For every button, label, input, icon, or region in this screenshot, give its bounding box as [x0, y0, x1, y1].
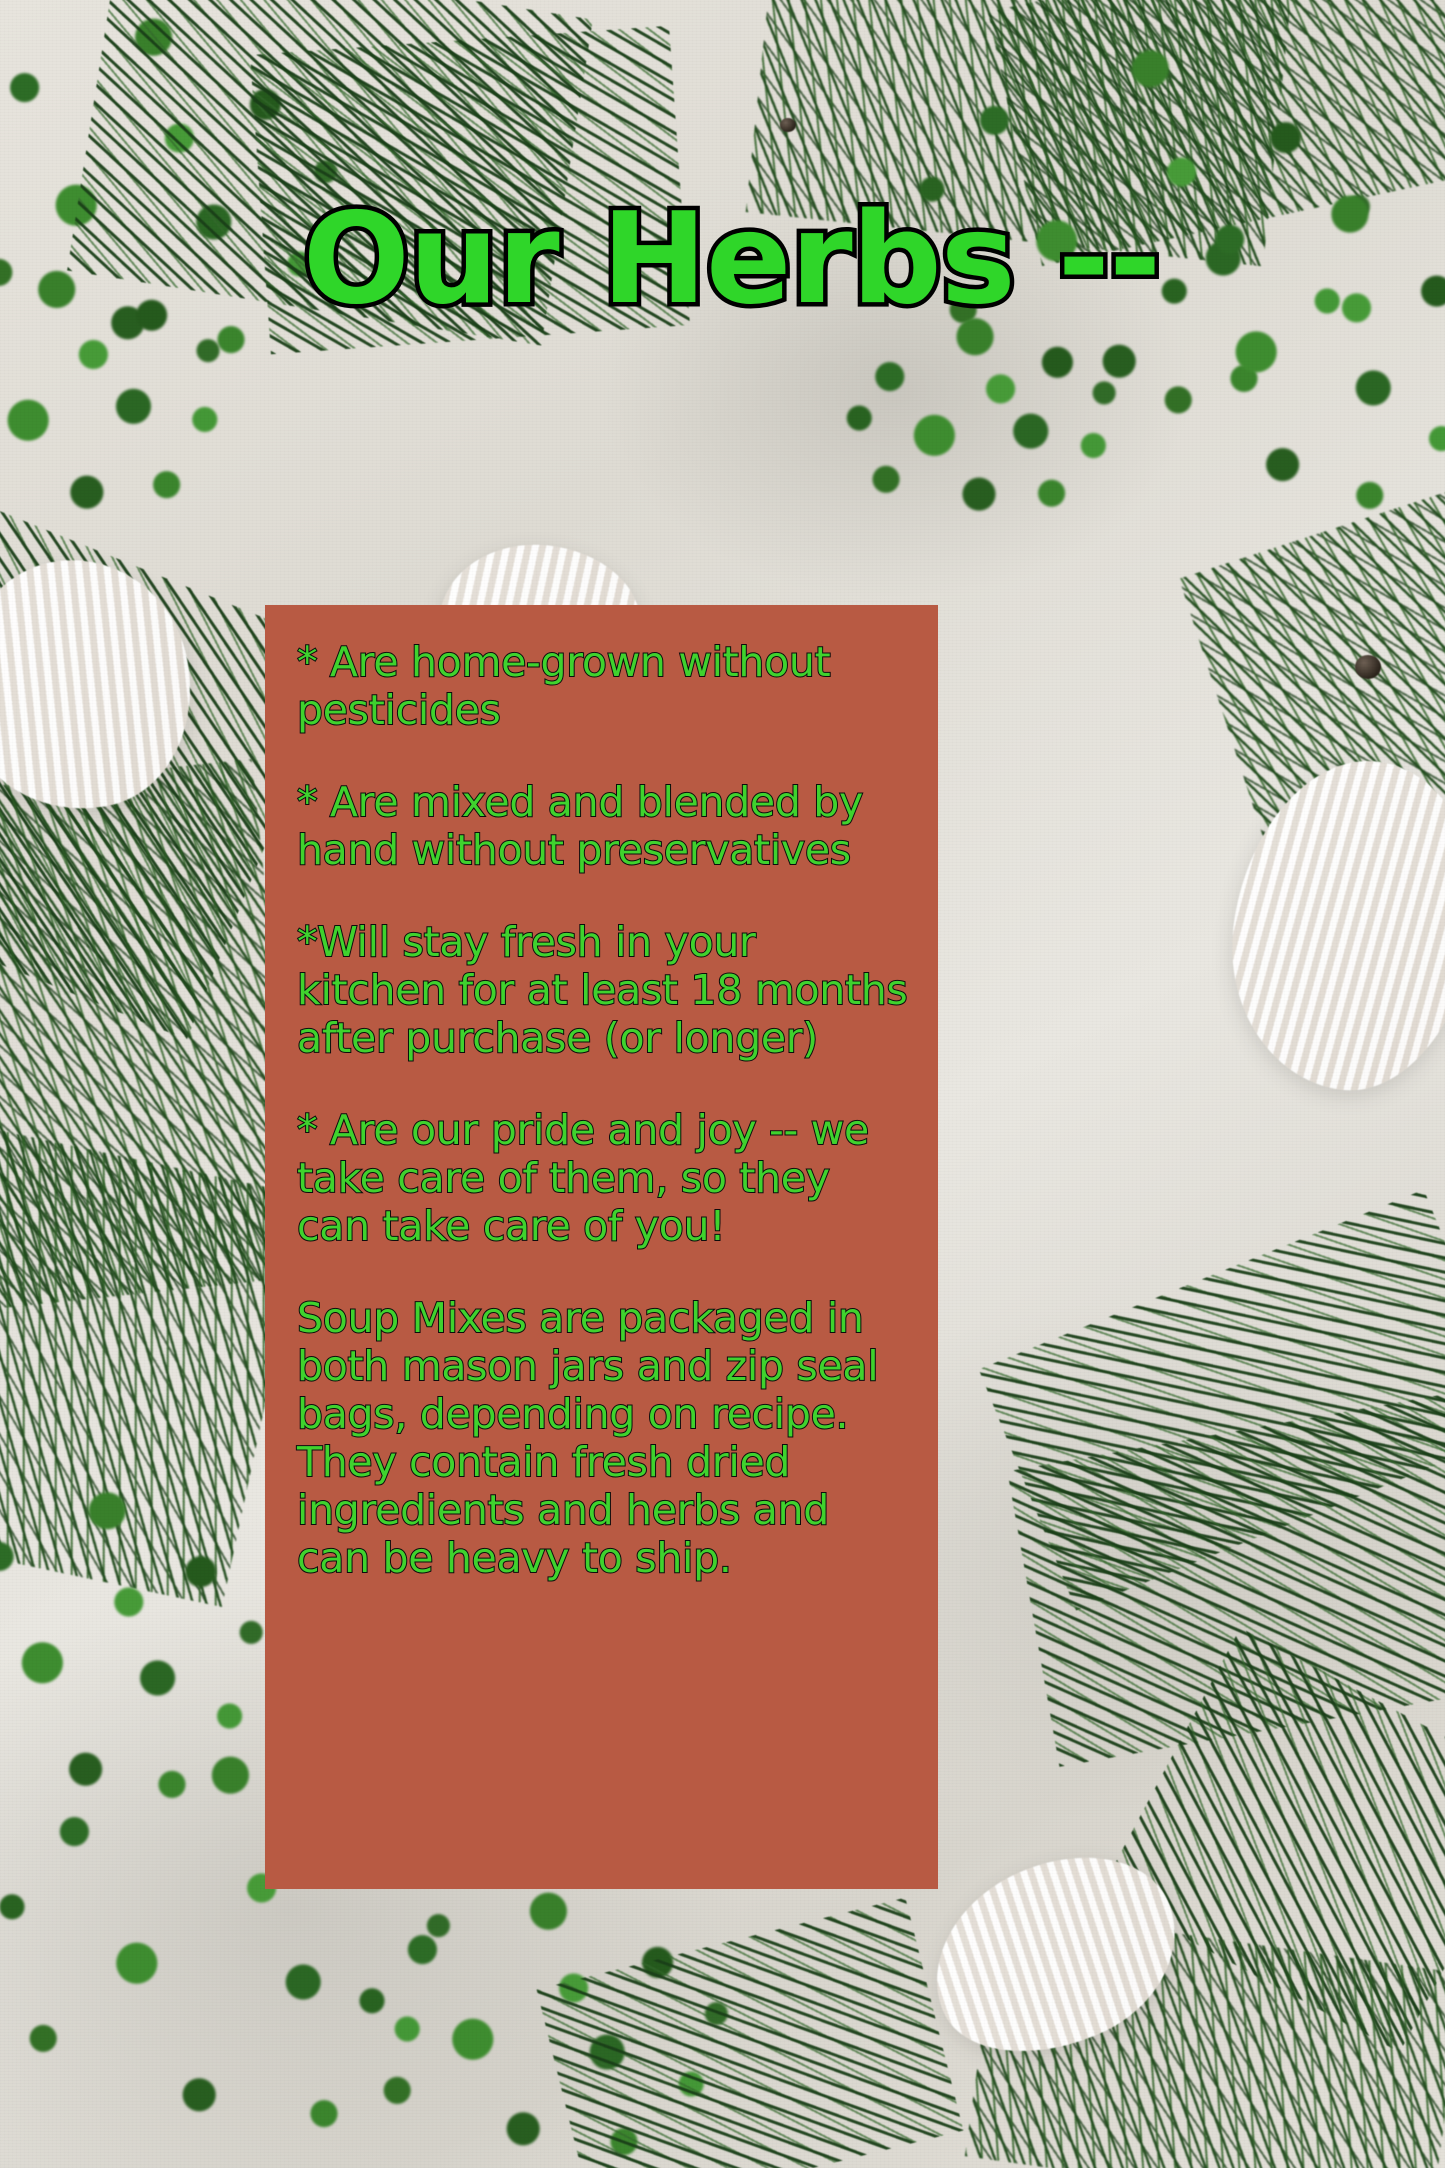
- herb-poster: Our Herbs -- * Are home-grown without pe…: [0, 0, 1445, 2168]
- content-panel: * Are home-grown without pesticides * Ar…: [265, 605, 938, 1889]
- bullet-mixed-by-hand: * Are mixed and blended by hand without …: [297, 779, 908, 875]
- bullet-home-grown: * Are home-grown without pesticides: [297, 639, 908, 735]
- bullet-pride-and-joy: * Are our pride and joy -- we take care …: [297, 1107, 908, 1251]
- title-area: Our Herbs --: [0, 196, 1445, 322]
- note-soup-mix-packaging: Soup Mixes are packaged in both mason ja…: [297, 1295, 908, 1583]
- bullet-stays-fresh: *Will stay fresh in your kitchen for at …: [297, 919, 908, 1063]
- content-list: * Are home-grown without pesticides * Ar…: [297, 639, 908, 1583]
- page-title: Our Herbs --: [303, 196, 1161, 322]
